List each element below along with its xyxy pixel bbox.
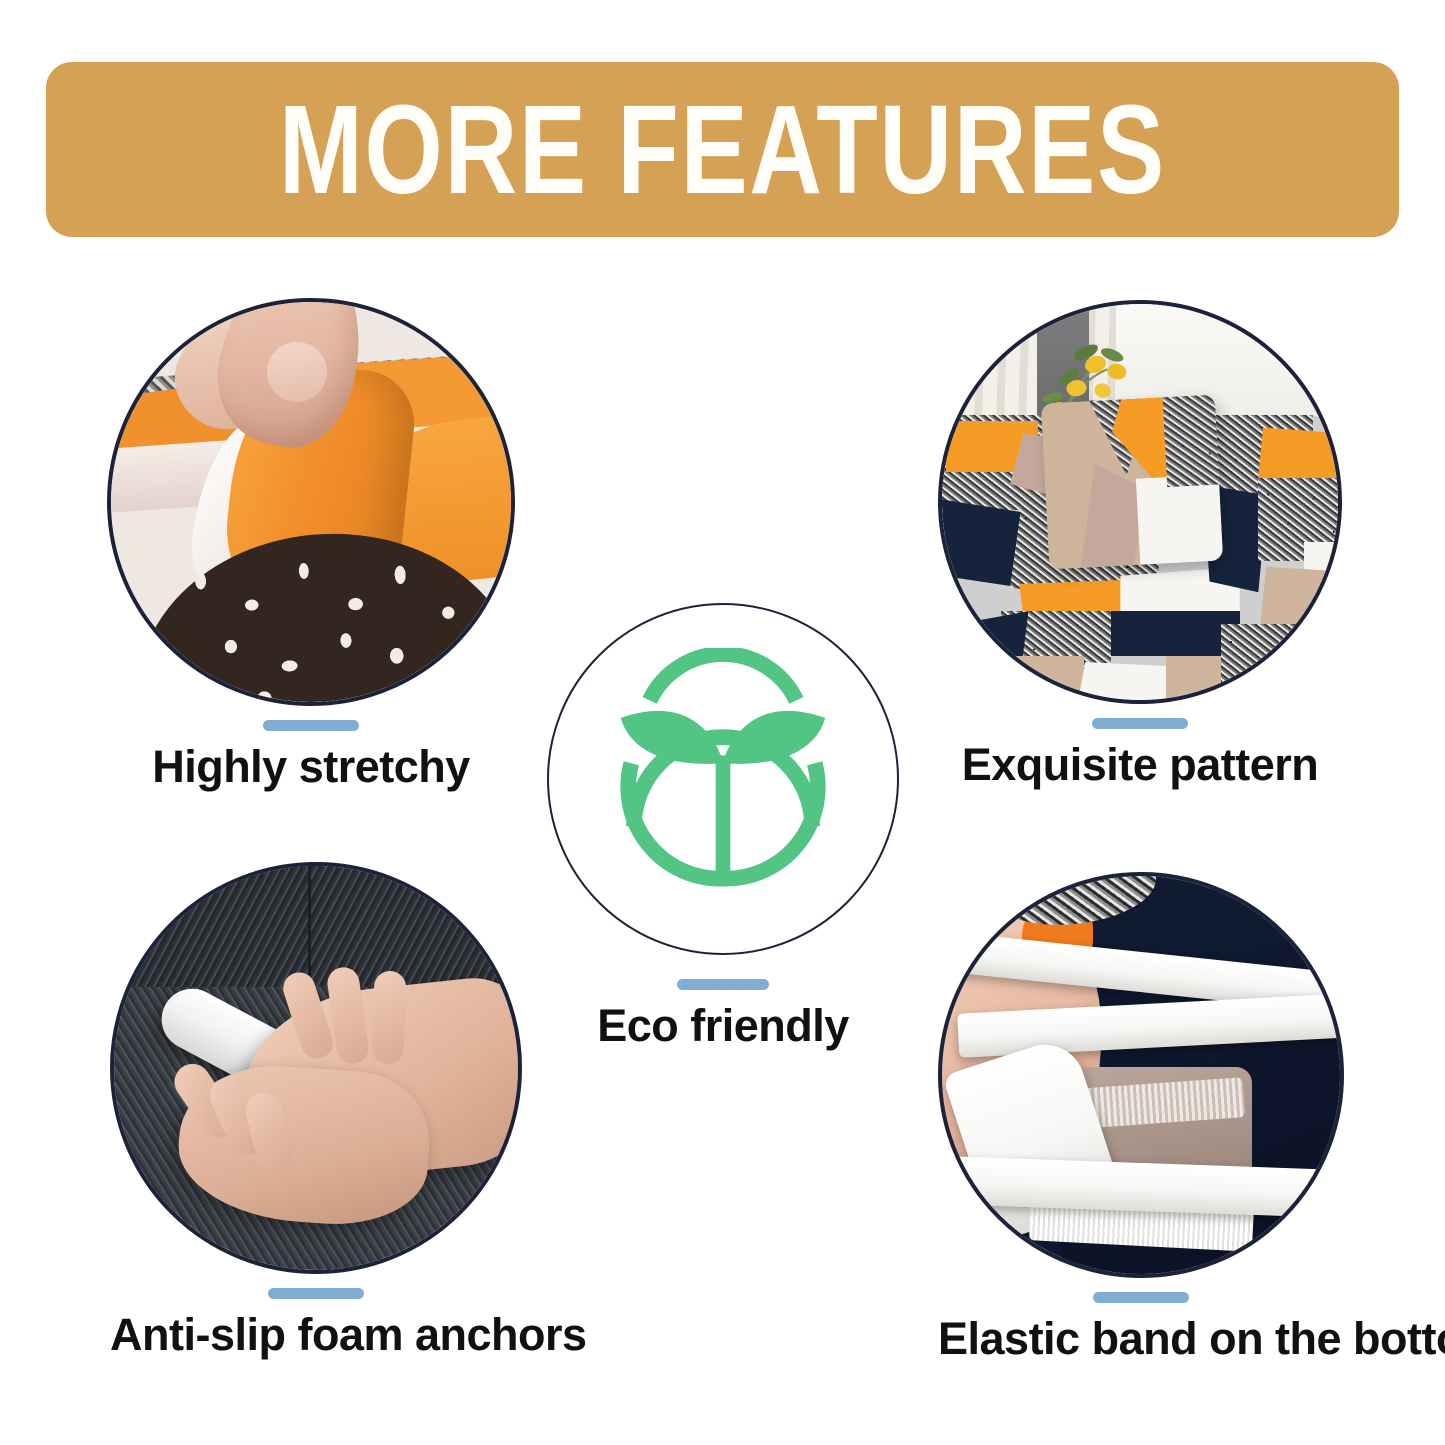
feature-eco-friendly: Eco friendly [547, 603, 899, 1049]
photo-foam-anchor [114, 866, 518, 1270]
patch-beige-1 [983, 656, 1084, 700]
feature-label-elastic-band: Elastic band on the bottom [938, 1315, 1344, 1362]
patch-navy-2 [1102, 611, 1240, 655]
photo-stretchy-fabric [111, 302, 511, 702]
finger-3 [371, 970, 407, 1064]
feature-anti-slip-foam-anchors: Anti-slip foam anchors [110, 862, 522, 1358]
accent-bar-highly-stretchy [263, 720, 359, 731]
feature-image-highly-stretchy [107, 298, 515, 706]
feature-image-anti-slip-foam [110, 862, 522, 1274]
photo-patterned-sofa [942, 304, 1338, 700]
eco-badge-circle [547, 603, 899, 955]
accent-bar-exquisite-pattern [1092, 718, 1188, 729]
sprout-icon [592, 648, 854, 910]
feature-label-anti-slip-foam: Anti-slip foam anchors [110, 1311, 522, 1358]
patch-navy-5 [1313, 611, 1338, 700]
pillow-grey-2 [1163, 395, 1224, 487]
feature-label-highly-stretchy: Highly stretchy [107, 743, 515, 790]
feature-image-exquisite-pattern [938, 300, 1342, 704]
accent-bar-eco-friendly [677, 979, 769, 990]
feature-label-eco-friendly: Eco friendly [547, 1002, 899, 1049]
patch-grey-6 [1221, 624, 1322, 700]
infographic-canvas: MORE FEATURES Highly stretchy [0, 0, 1445, 1445]
page-title: MORE FEATURES [279, 87, 1166, 213]
accent-bar-elastic-band [1093, 1292, 1189, 1303]
feature-highly-stretchy: Highly stretchy [107, 298, 515, 790]
feature-exquisite-pattern: Exquisite pattern [938, 300, 1342, 788]
header-banner: MORE FEATURES [46, 62, 1399, 237]
feature-elastic-band: Elastic band on the bottom [938, 872, 1344, 1362]
pillow-white [1135, 474, 1223, 565]
feature-label-exquisite-pattern: Exquisite pattern [938, 741, 1342, 788]
throw-pillow [1041, 395, 1224, 570]
feature-image-elastic-band [938, 872, 1344, 1278]
sofa-backrest [114, 866, 518, 987]
accent-bar-anti-slip-foam [268, 1288, 364, 1299]
patch-orange-3 [1258, 428, 1338, 485]
photo-elastic-band [942, 876, 1340, 1274]
